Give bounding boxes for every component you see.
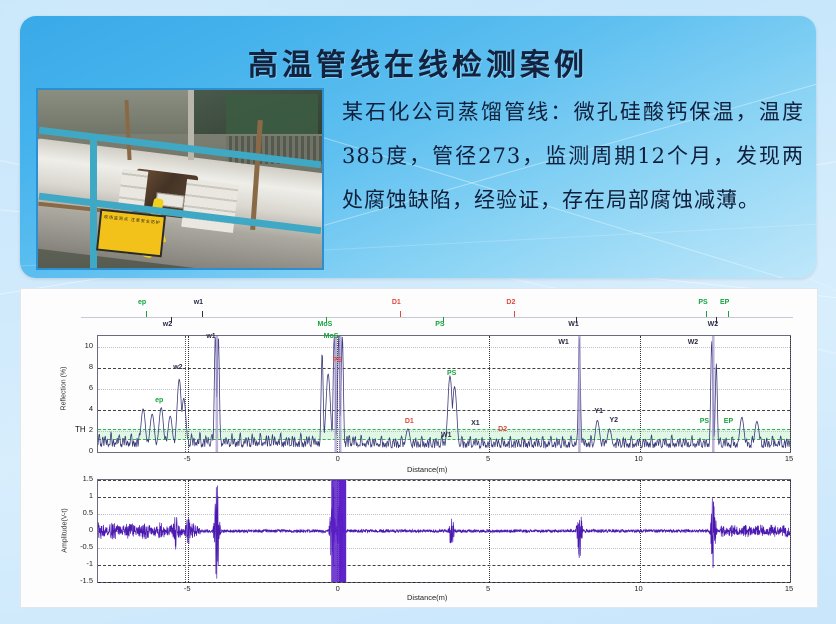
data-point-label: Y1 [594, 408, 603, 415]
x-tick-label: 5 [478, 454, 498, 463]
header-panel: 高温管线在线检测案例 现场监测点 注意安全防护 某石化公司蒸馏管线：微孔硅酸 [20, 16, 816, 278]
data-point-label: X1 [471, 420, 480, 427]
ruler-tick [400, 311, 401, 317]
y-tick-label: -1 [75, 559, 93, 568]
y-tick-label: 1.5 [75, 474, 93, 483]
ruler-marker-label: w1 [194, 299, 203, 306]
photo-warning-sign: 现场监测点 注意安全防护 [96, 209, 166, 258]
data-point-label: PS [333, 357, 342, 364]
data-point-label: W2 [688, 339, 699, 346]
ruler-tick [202, 311, 203, 317]
description-text: 某石化公司蒸馏管线：微孔硅酸钙保温，温度385度，管径273，监测周期12个月，… [342, 90, 804, 222]
y-tick-label: 10 [81, 341, 93, 350]
reflection-y-axis-label: Reflection (%) [61, 344, 68, 434]
page-title: 高温管线在线检测案例 [20, 40, 816, 84]
y-tick-label: 0 [81, 446, 93, 455]
y-tick-label: 4 [81, 404, 93, 413]
ruler-marker-label: MoS [318, 321, 333, 328]
ruler-marker-label: PS [435, 321, 444, 328]
data-point-label: w1 [206, 333, 215, 340]
x-tick-label: -5 [177, 454, 197, 463]
data-point-label: Y2 [609, 417, 618, 424]
ruler-marker-label: D1 [392, 299, 401, 306]
grid-line [98, 582, 790, 583]
amplitude-y-axis-label: Amplitude(V-t) [62, 481, 69, 581]
y-tick-label: 0.5 [75, 508, 93, 517]
grid-line [790, 480, 791, 582]
y-tick-label: 8 [81, 362, 93, 371]
data-point-label: PS [700, 418, 709, 425]
y-tick-label: 2 [81, 425, 93, 434]
ruler-marker-label: EP [720, 299, 729, 306]
marker-ruler [81, 317, 793, 318]
grid-line [790, 336, 791, 452]
x-tick-label: 15 [779, 454, 799, 463]
photo-green-wall [226, 94, 318, 136]
data-point-label: D2 [498, 426, 507, 433]
y-tick-label: -1.5 [75, 576, 93, 585]
ruler-tick [706, 311, 707, 317]
ruler-marker-label: W1 [568, 321, 579, 328]
data-point-label: W1 [558, 339, 569, 346]
data-point-label: D1 [405, 418, 414, 425]
ruler-tick [514, 311, 515, 317]
chart-panel: epw2w1MoSD1PSD2W1PSEPW2 epw2w1MoSPSD1W1D… [20, 288, 818, 608]
y-tick-label: 6 [81, 383, 93, 392]
ruler-marker-label: D2 [506, 299, 515, 306]
ruler-tick [146, 311, 147, 317]
x-tick-label: -5 [177, 584, 197, 593]
reflection-plot: epw2w1MoSPSD1W1D2PSX1W1Y1Y2W2PSEP [97, 335, 791, 453]
data-point-label: MoS [324, 333, 339, 340]
reflection-x-axis-label: Distance(m) [407, 465, 447, 474]
x-tick-label: 10 [629, 454, 649, 463]
data-point-label: ep [155, 397, 163, 404]
data-point-label: w2 [173, 364, 182, 371]
data-point-label: PS [447, 370, 456, 377]
x-tick-label: 0 [328, 584, 348, 593]
amplitude-plot [97, 479, 791, 583]
y-tick-label: 0 [75, 525, 93, 534]
slide-canvas: 高温管线在线检测案例 现场监测点 注意安全防护 某石化公司蒸馏管线：微孔硅酸 [0, 0, 836, 624]
ruler-marker-label: W2 [708, 321, 719, 328]
x-tick-label: 15 [779, 584, 799, 593]
site-photo: 现场监测点 注意安全防护 [36, 88, 324, 270]
amplitude-trace [98, 480, 790, 582]
y-tick-label: -0.5 [75, 542, 93, 551]
x-tick-label: 5 [478, 584, 498, 593]
ruler-marker-label: w2 [163, 321, 172, 328]
x-tick-label: 0 [328, 454, 348, 463]
y-tick-label: 1 [75, 491, 93, 500]
ruler-marker-label: PS [698, 299, 707, 306]
ruler-marker-label: ep [138, 299, 146, 306]
data-point-label: EP [724, 418, 733, 425]
ruler-tick [728, 311, 729, 317]
photo-insulation-block [181, 179, 238, 233]
data-point-label: W1 [441, 432, 452, 439]
x-tick-label: 10 [629, 584, 649, 593]
amplitude-x-axis-label: Distance(m) [407, 593, 447, 602]
